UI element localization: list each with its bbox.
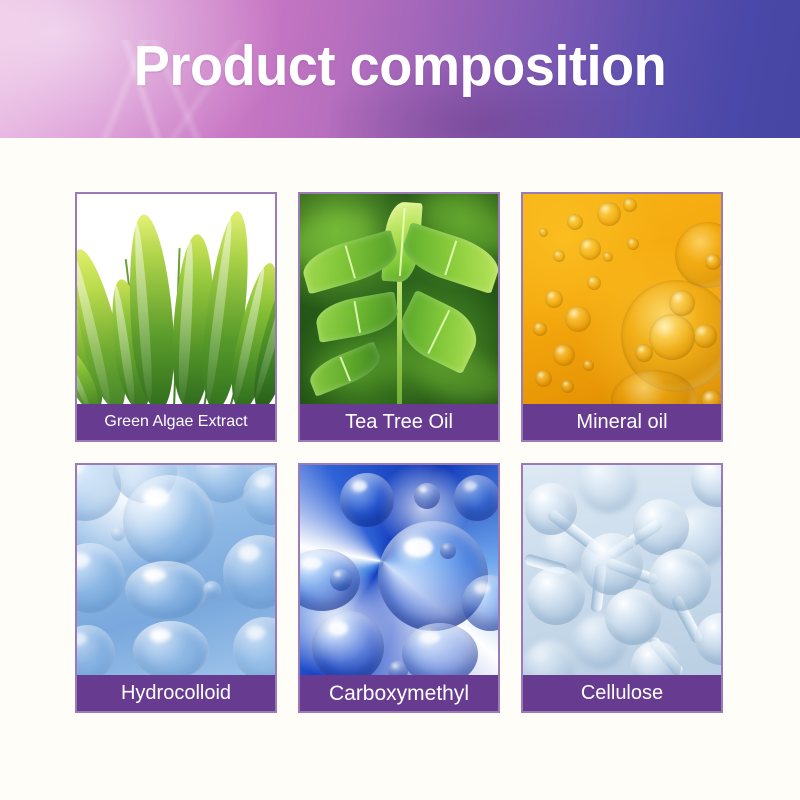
oil-bubble (567, 214, 583, 230)
header-banner: Product composition (0, 0, 800, 138)
oil-bubble (603, 252, 613, 262)
blue-glass-sphere (330, 569, 352, 591)
oil-bubble (623, 198, 637, 212)
water-sphere (133, 621, 209, 675)
molecule-node (633, 499, 689, 555)
oil-bubble (669, 290, 695, 316)
oil-bubble (627, 238, 639, 250)
molecule-node (605, 589, 661, 645)
product-composition-page: Product composition (0, 0, 800, 800)
card-caption: Tea Tree Oil (300, 404, 498, 440)
oil-bubble (539, 228, 548, 237)
cellulose-photo (523, 465, 721, 675)
oil-bubble (597, 202, 621, 226)
card-caption: Carboxymethyl (300, 675, 498, 711)
water-sphere (123, 475, 215, 567)
blue-glass-sphere (312, 611, 384, 675)
card-caption: Cellulose (523, 675, 721, 711)
green-algae-photo (77, 194, 275, 404)
oil-bubble (579, 238, 601, 260)
oil-bubble (635, 344, 653, 362)
blue-glass-sphere (340, 473, 394, 527)
card-caption: Mineral oil (523, 404, 721, 440)
oil-bubble (583, 360, 594, 371)
oil-bubble (587, 276, 601, 290)
product-card-mineral-oil[interactable]: Mineral oil (521, 192, 723, 442)
blue-glass-sphere (414, 483, 440, 509)
water-sphere (125, 561, 207, 619)
hydrocolloid-photo (77, 465, 275, 675)
blue-glass-sphere (454, 475, 498, 521)
molecule-node (649, 549, 711, 611)
product-card-cellulose[interactable]: Cellulose (521, 463, 723, 713)
page-title: Product composition (20, 33, 780, 99)
molecule-node (527, 567, 585, 625)
molecule-node (525, 483, 577, 535)
oil-bubble (535, 370, 552, 387)
card-caption: Green Algae Extract (77, 404, 275, 440)
oil-bubble (705, 254, 721, 270)
product-card-carboxymethyl[interactable]: Carboxymethyl (298, 463, 500, 713)
blue-glass-sphere (440, 543, 456, 559)
oil-bubble (533, 322, 547, 336)
oil-bubble (565, 306, 591, 332)
product-card-tea-tree-oil[interactable]: Tea Tree Oil (298, 192, 500, 442)
card-caption: Hydrocolloid (77, 675, 275, 711)
oil-bubble (649, 314, 695, 360)
molecule-node (581, 533, 643, 595)
oil-bubble (545, 290, 563, 308)
oil-bubble (561, 380, 574, 393)
product-card-green-algae-extract[interactable]: Green Algae Extract (75, 192, 277, 442)
oil-bubble (553, 250, 565, 262)
product-card-grid: Green Algae Extract Tea Tree Oil (75, 192, 723, 713)
product-card-hydrocolloid[interactable]: Hydrocolloid (75, 463, 277, 713)
carboxymethyl-photo (300, 465, 498, 675)
oil-bubble (693, 324, 717, 348)
oil-bubble (701, 390, 721, 404)
water-sphere (111, 527, 125, 541)
blue-glass-sphere (388, 661, 408, 675)
water-sphere (203, 581, 221, 599)
oil-bubble (553, 344, 575, 366)
tea-tree-photo (300, 194, 498, 404)
mineral-oil-photo (523, 194, 721, 404)
